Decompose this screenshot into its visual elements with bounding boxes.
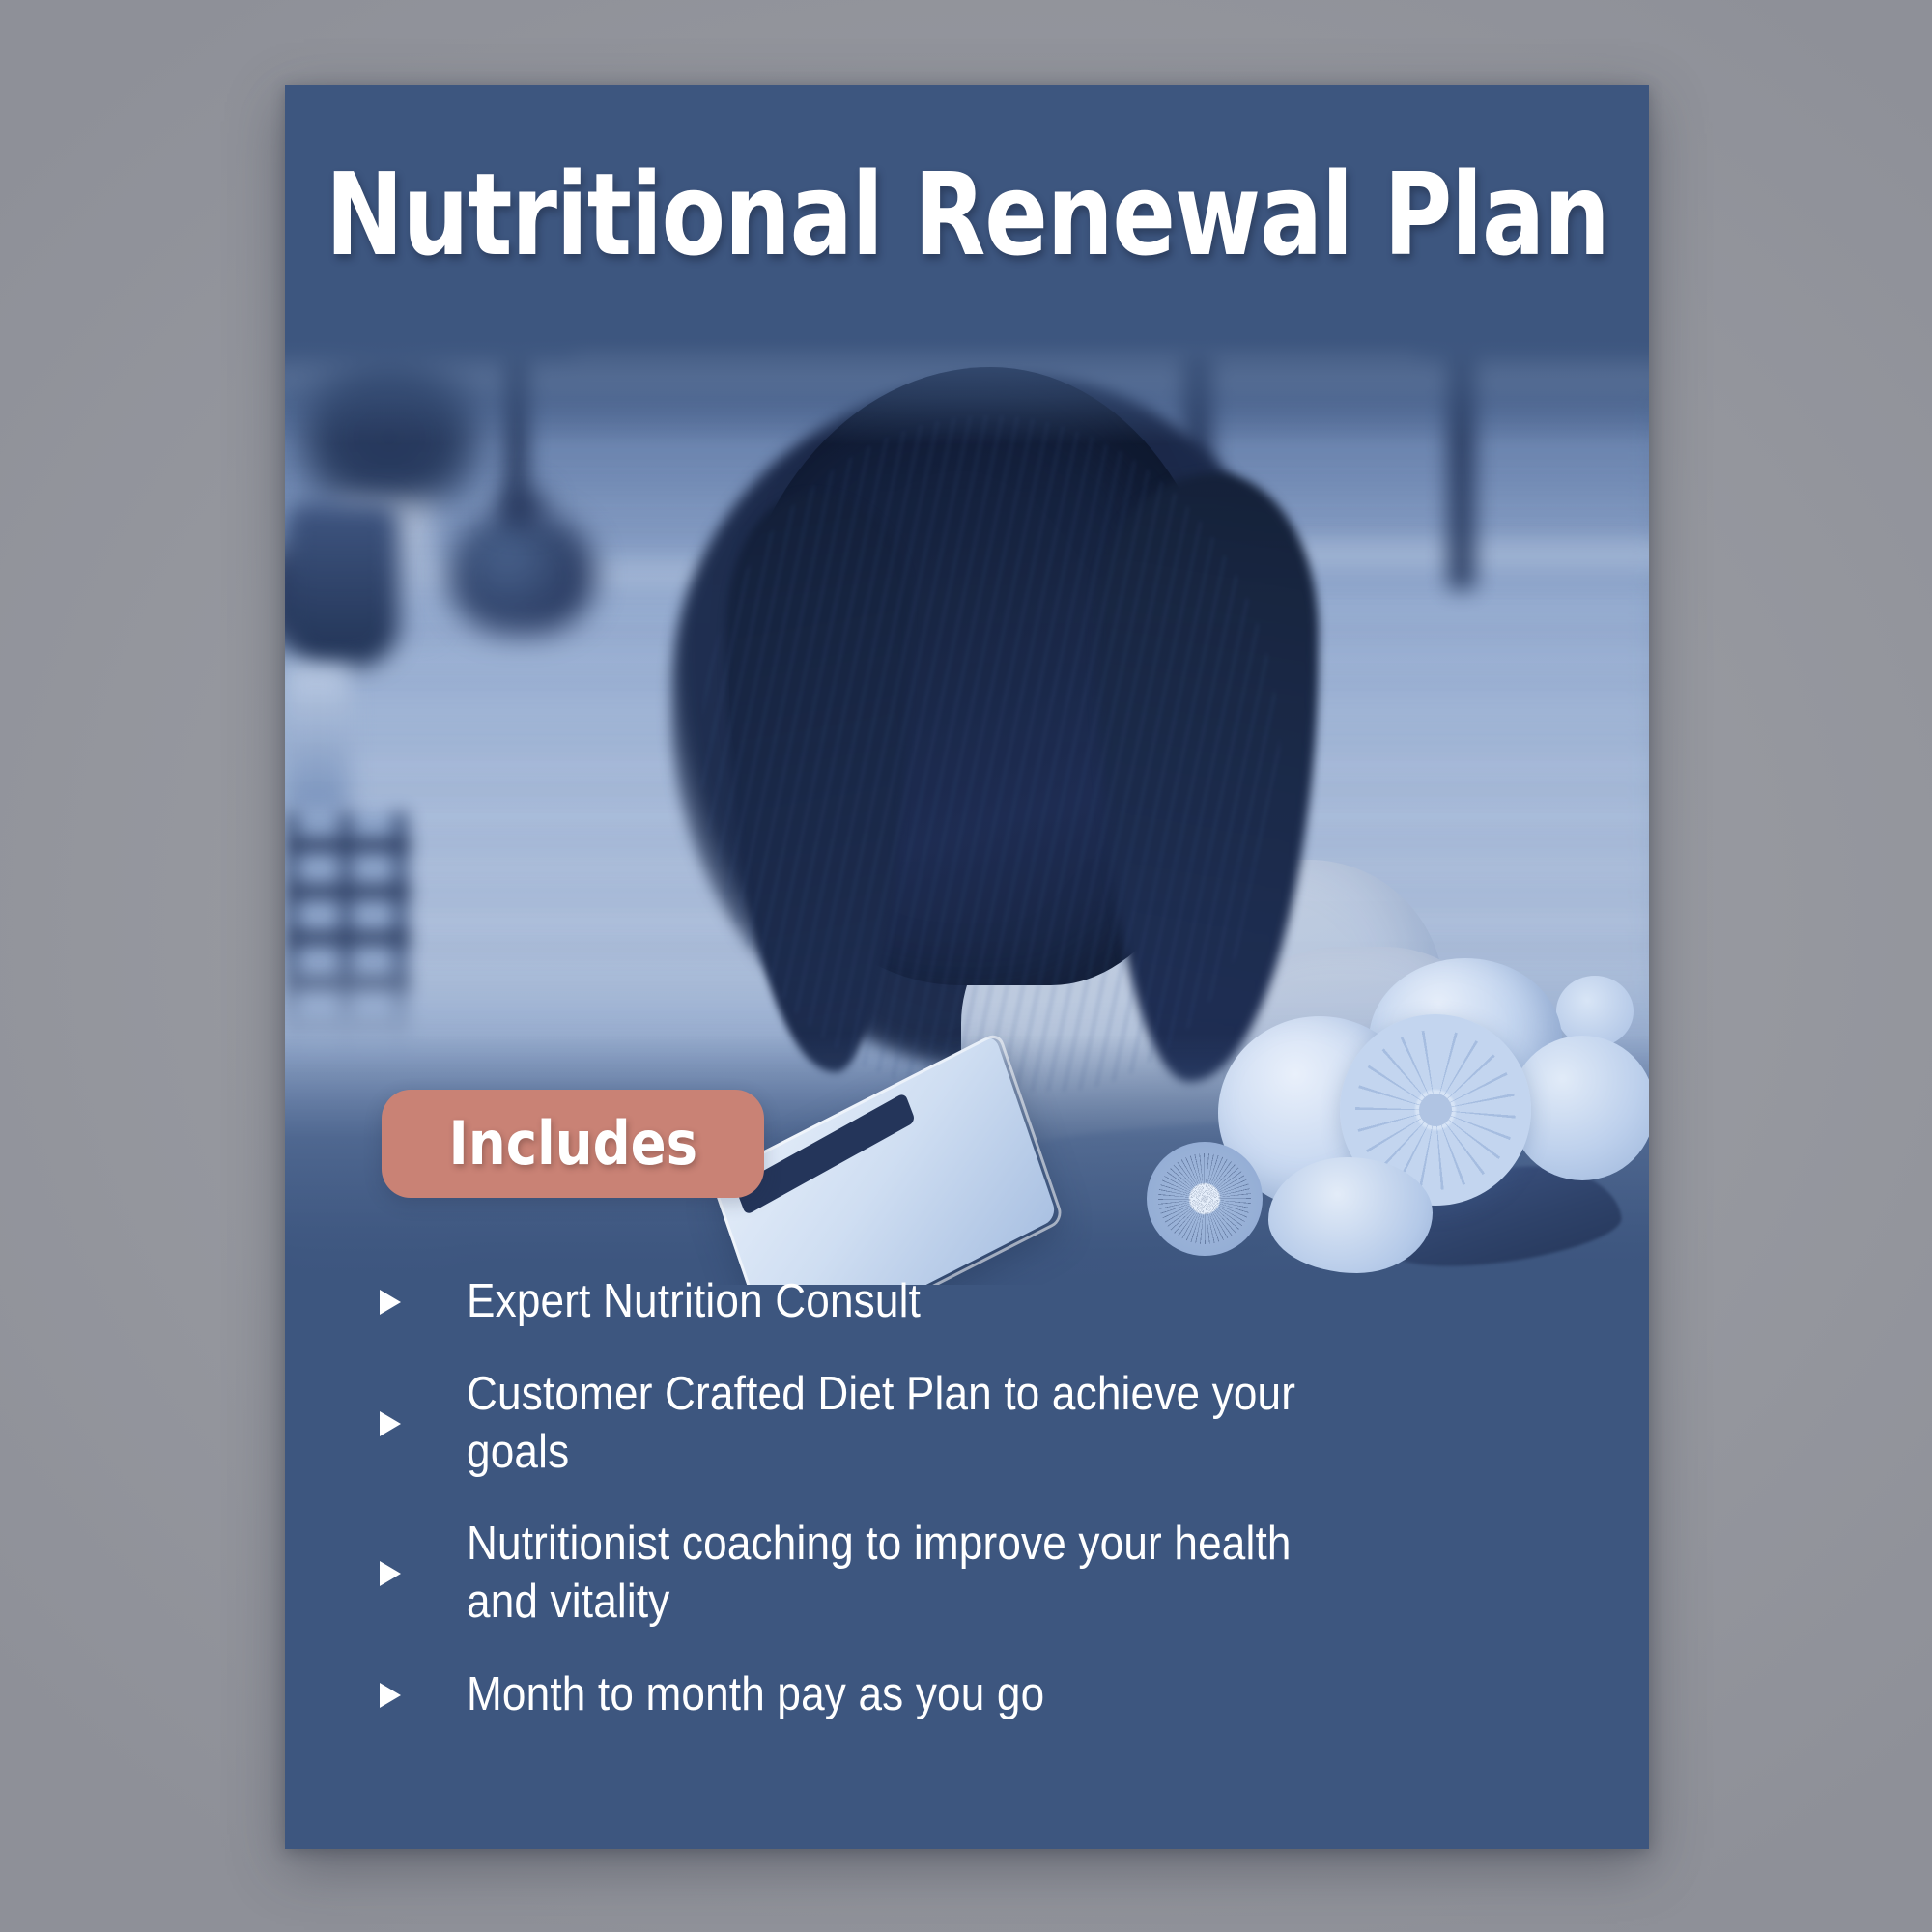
feature-text: Customer Crafted Diet Plan to achieve yo… — [467, 1366, 1336, 1482]
feature-item: Month to month pay as you go — [378, 1666, 1591, 1724]
kettle — [449, 510, 594, 634]
kiwi-rays — [1158, 1153, 1251, 1244]
kiwi-slice — [1147, 1142, 1263, 1256]
feature-text: Expert Nutrition Consult — [467, 1273, 921, 1331]
page-title: Nutritional Renewal Plan — [326, 157, 1609, 271]
feature-text: Nutritionist coaching to improve your he… — [467, 1516, 1336, 1632]
title-band: Nutritional Renewal Plan — [285, 85, 1649, 344]
citrus-core — [1419, 1094, 1452, 1126]
triangle-right-icon — [378, 1288, 407, 1317]
bright-window-panel — [285, 667, 349, 811]
feature-item: Nutritionist coaching to improve your he… — [378, 1516, 1591, 1632]
includes-badge: Includes — [382, 1090, 764, 1198]
triangle-right-icon — [378, 1409, 407, 1438]
feature-item: Customer Crafted Diet Plan to achieve yo… — [378, 1366, 1591, 1482]
triangle-right-icon — [378, 1559, 407, 1588]
feature-text: Month to month pay as you go — [467, 1666, 1044, 1724]
plant-vase — [285, 502, 399, 667]
feature-item: Expert Nutrition Consult — [378, 1273, 1591, 1331]
triangle-right-icon — [378, 1681, 407, 1710]
includes-feature-list: Expert Nutrition Consult Customer Crafte… — [378, 1273, 1591, 1759]
fruit-arrangement — [1156, 951, 1639, 1269]
plant-foliage — [285, 338, 494, 502]
kettle-lid — [499, 491, 546, 524]
bell-pepper — [1268, 1157, 1433, 1273]
flyer-card: Nutritional Renewal Plan — [285, 85, 1649, 1849]
shelf-bracket — [1448, 348, 1475, 589]
includes-badge-label: Includes — [448, 1114, 697, 1174]
